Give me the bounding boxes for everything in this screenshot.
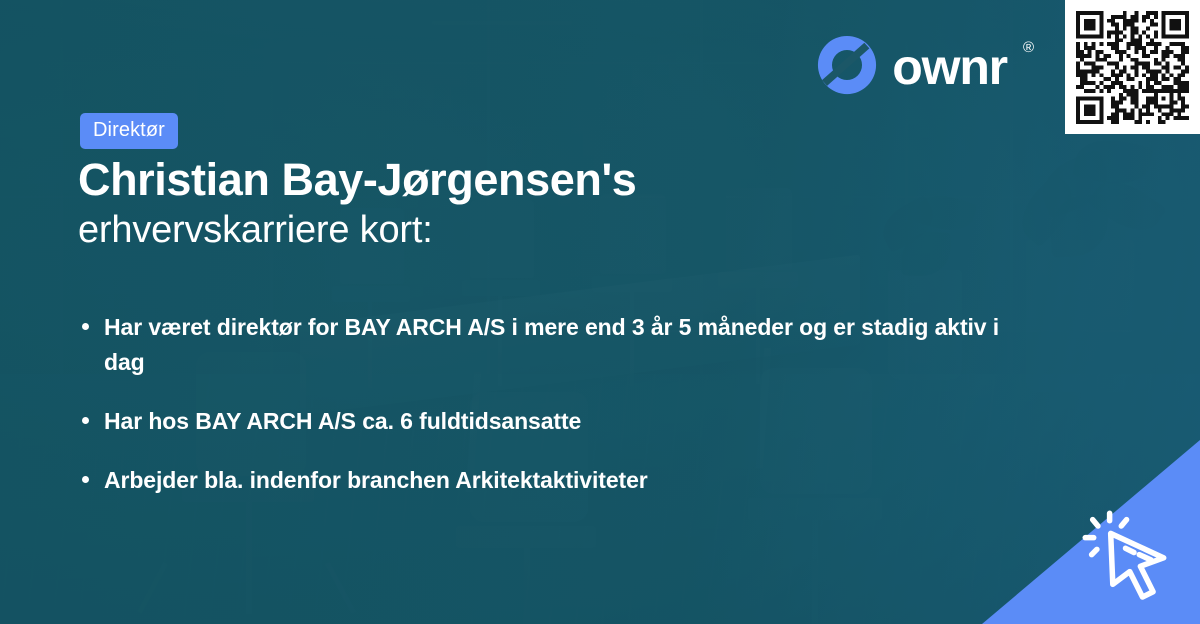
brand-logo[interactable]: ownr ® bbox=[816, 34, 1032, 96]
list-item: Har været direktør for BAY ARCH A/S i me… bbox=[80, 310, 1010, 380]
headline-line-2: erhvervskarriere kort: bbox=[78, 207, 978, 255]
bullet-dot-icon bbox=[82, 323, 89, 330]
headline-line-1: Christian Bay-Jørgensen's bbox=[78, 155, 978, 205]
bullet-dot-icon bbox=[82, 417, 89, 424]
qr-code-panel[interactable] bbox=[1065, 0, 1200, 134]
career-card: Direktør Christian Bay-Jørgensen's erhve… bbox=[0, 0, 1200, 624]
list-item: Arbejder bla. indenfor branchen Arkitekt… bbox=[80, 463, 1010, 498]
list-item: Har hos BAY ARCH A/S ca. 6 fuldtidsansat… bbox=[80, 404, 1010, 439]
registered-trademark-symbol: ® bbox=[1023, 40, 1034, 55]
click-cursor-icon bbox=[1080, 508, 1188, 614]
list-item-text: Har hos BAY ARCH A/S ca. 6 fuldtidsansat… bbox=[104, 408, 581, 434]
qr-code-icon bbox=[1076, 11, 1189, 124]
list-item-text: Arbejder bla. indenfor branchen Arkitekt… bbox=[104, 467, 648, 493]
list-item-text: Har været direktør for BAY ARCH A/S i me… bbox=[104, 314, 999, 375]
career-facts-list: Har været direktør for BAY ARCH A/S i me… bbox=[80, 310, 1010, 498]
role-badge: Direktør bbox=[80, 113, 178, 149]
page-title: Christian Bay-Jørgensen's erhvervskarrie… bbox=[78, 155, 978, 255]
bullet-dot-icon bbox=[82, 476, 89, 483]
ownr-circle-swoosh-logo-icon bbox=[816, 34, 878, 96]
brand-wordmark: ownr bbox=[892, 42, 1007, 92]
